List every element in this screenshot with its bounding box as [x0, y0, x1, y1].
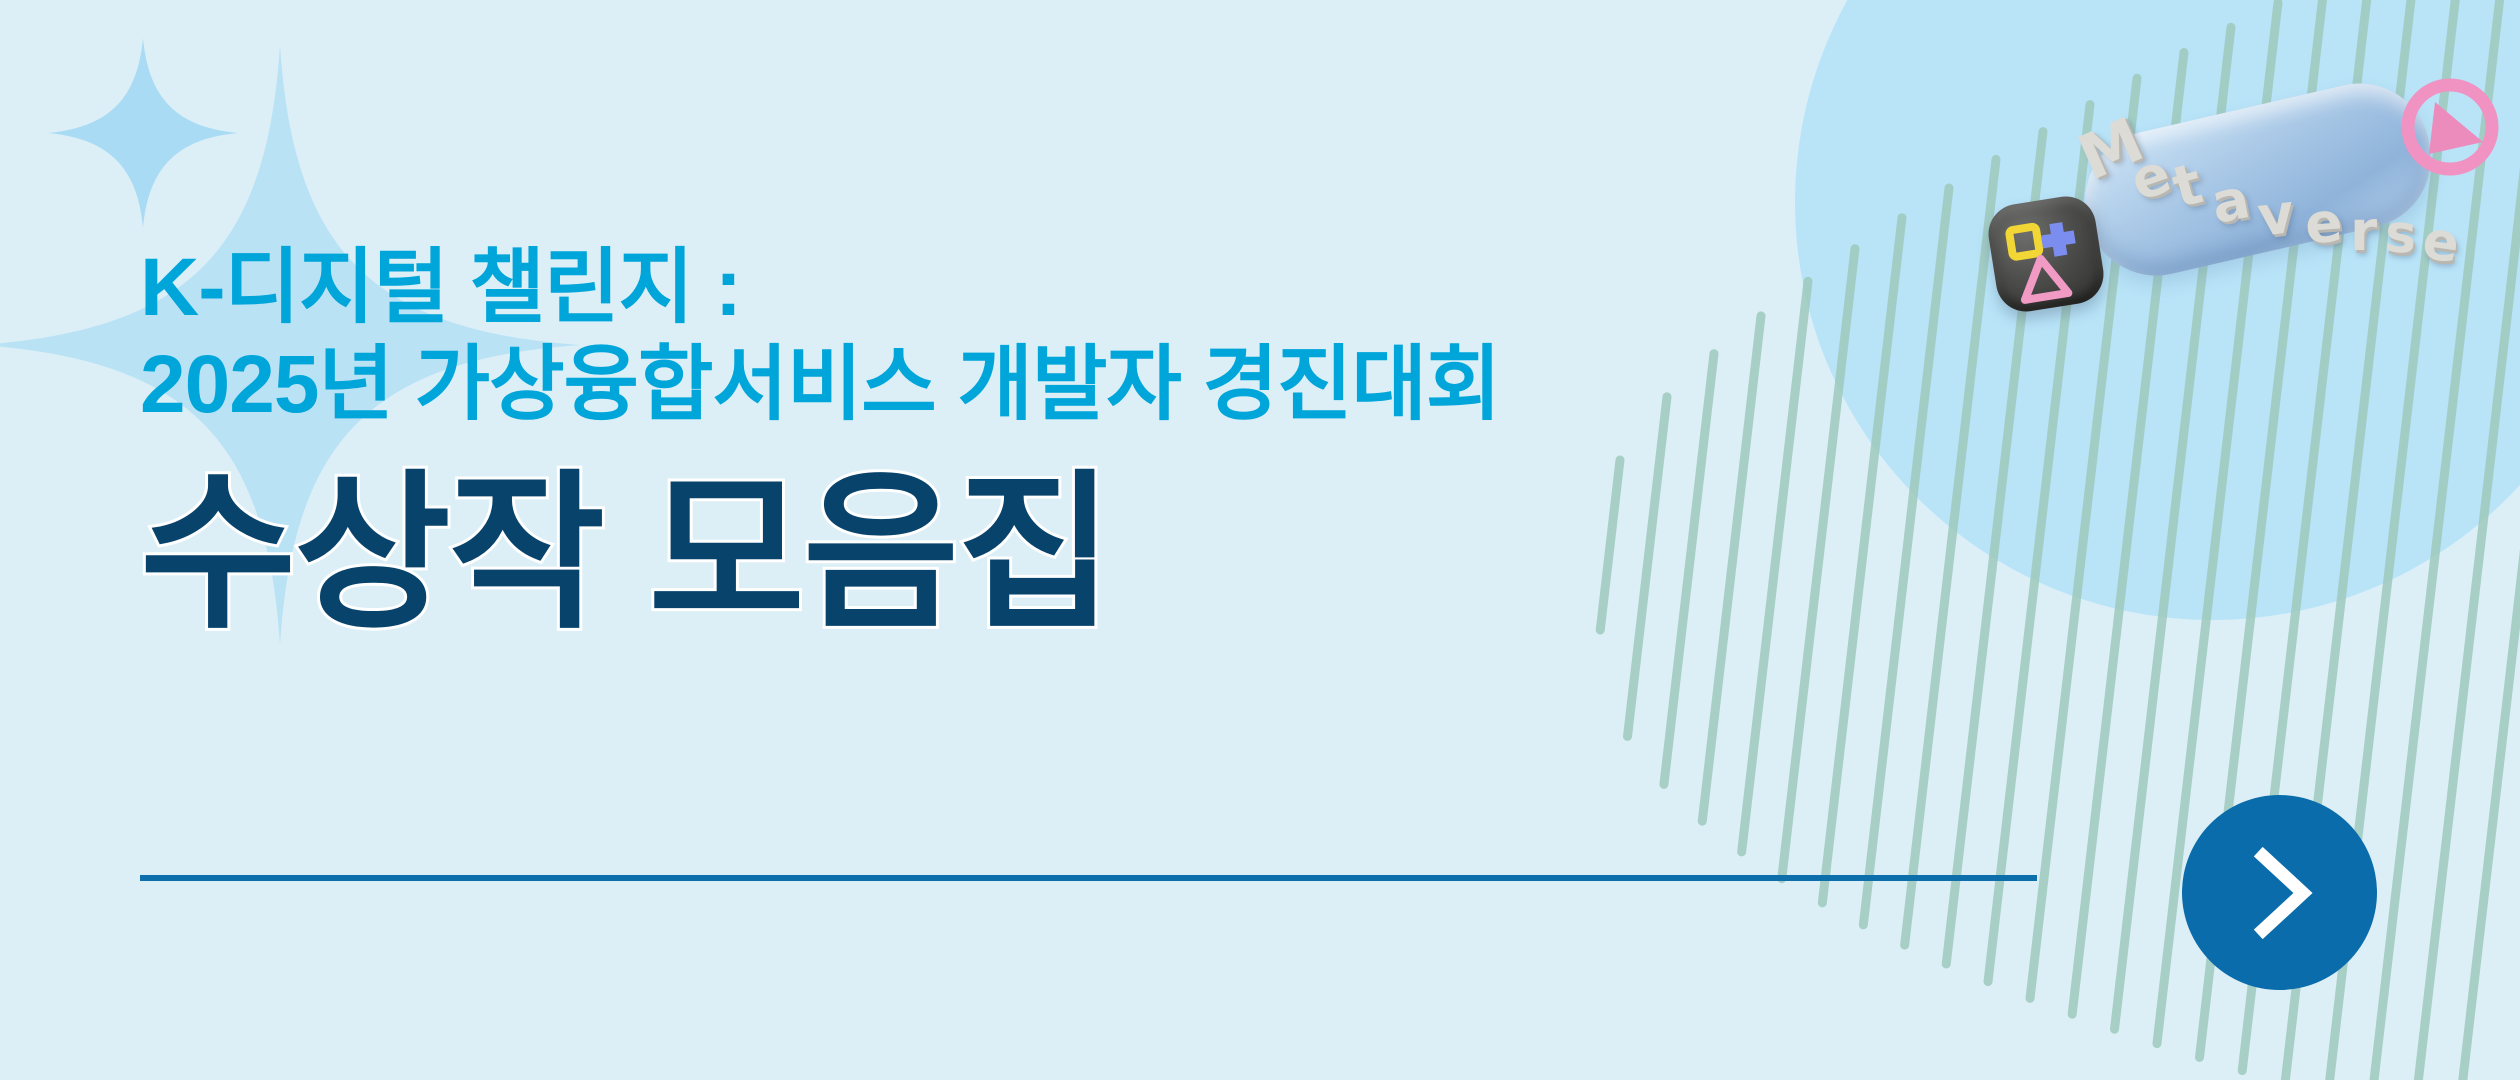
badge-letter: t — [2167, 155, 2208, 217]
badge-letter: a — [2207, 171, 2254, 232]
badge-letter: s — [2383, 207, 2418, 262]
badge-letter: e — [2419, 214, 2462, 271]
metaverse-badge: M e t a v e r s e — [2000, 50, 2520, 330]
plus-icon — [2039, 221, 2077, 259]
eyebrow-line-2: 2025년 가상융합서비스 개발자 경진대회 — [140, 337, 1500, 434]
triangle-icon — [2019, 255, 2068, 299]
next-button[interactable] — [2182, 795, 2377, 990]
sparkle-icon-small — [48, 38, 238, 228]
badge-letter: r — [2350, 204, 2377, 259]
square-icon — [2009, 226, 2040, 257]
horizontal-rule — [140, 875, 2037, 881]
eyebrow-line-1: K-디지털 챌린지 : — [140, 240, 1500, 337]
promo-banner: M e t a v e r s e K-디지털 챌린지 : 2025 — [0, 0, 2520, 1080]
chevron-right-icon — [2225, 838, 2335, 948]
play-circle-icon — [2395, 72, 2505, 182]
page-title: 수상작 모음집 — [140, 468, 1500, 641]
badge-letter: e — [2124, 145, 2177, 209]
badge-letter: e — [2303, 195, 2344, 252]
game-controller-icon — [1984, 192, 2108, 316]
badge-letter: v — [2255, 186, 2297, 245]
banner-text-block: K-디지털 챌린지 : 2025년 가상융합서비스 개발자 경진대회 수상작 모… — [140, 240, 1500, 641]
